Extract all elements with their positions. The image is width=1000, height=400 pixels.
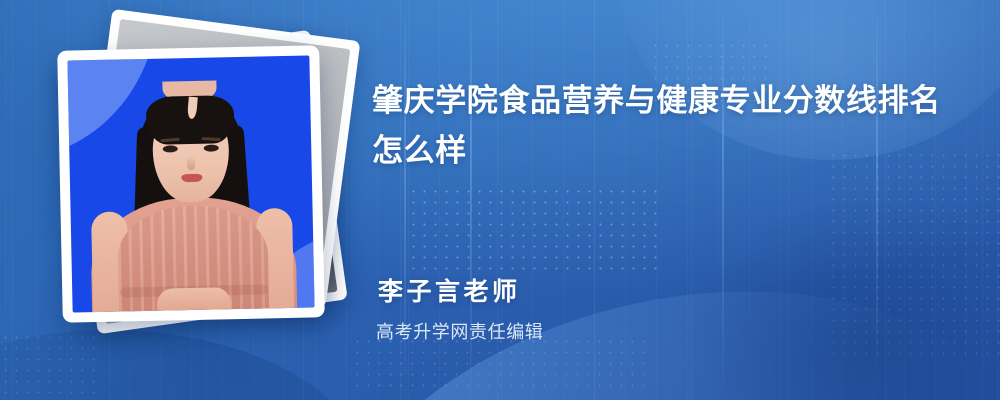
swoosh-shadow bbox=[0, 330, 370, 400]
author-role: 高考升学网责任编辑 bbox=[376, 318, 543, 344]
text-column: 肇庆学院食品营养与健康专业分数线排名怎么样 李子言老师 高考升学网责任编辑 bbox=[372, 0, 972, 400]
banner-headline: 肇庆学院食品营养与健康专业分数线排名怎么样 bbox=[372, 76, 950, 176]
portrait-lips bbox=[181, 174, 202, 182]
teacher-portrait-photo bbox=[67, 55, 314, 312]
portrait-eye-right bbox=[203, 144, 218, 151]
photo-card-stack bbox=[60, 38, 335, 316]
dot-grid-bottom-left bbox=[0, 332, 96, 394]
photo-card-front bbox=[57, 45, 325, 322]
portrait-hands bbox=[156, 287, 230, 311]
portrait-eye-left bbox=[162, 145, 177, 152]
author-name: 李子言老师 bbox=[378, 272, 521, 308]
portrait-nose bbox=[186, 156, 194, 170]
promo-banner: 肇庆学院食品营养与健康专业分数线排名怎么样 李子言老师 高考升学网责任编辑 bbox=[0, 0, 1000, 400]
portrait-illustration bbox=[86, 80, 296, 312]
